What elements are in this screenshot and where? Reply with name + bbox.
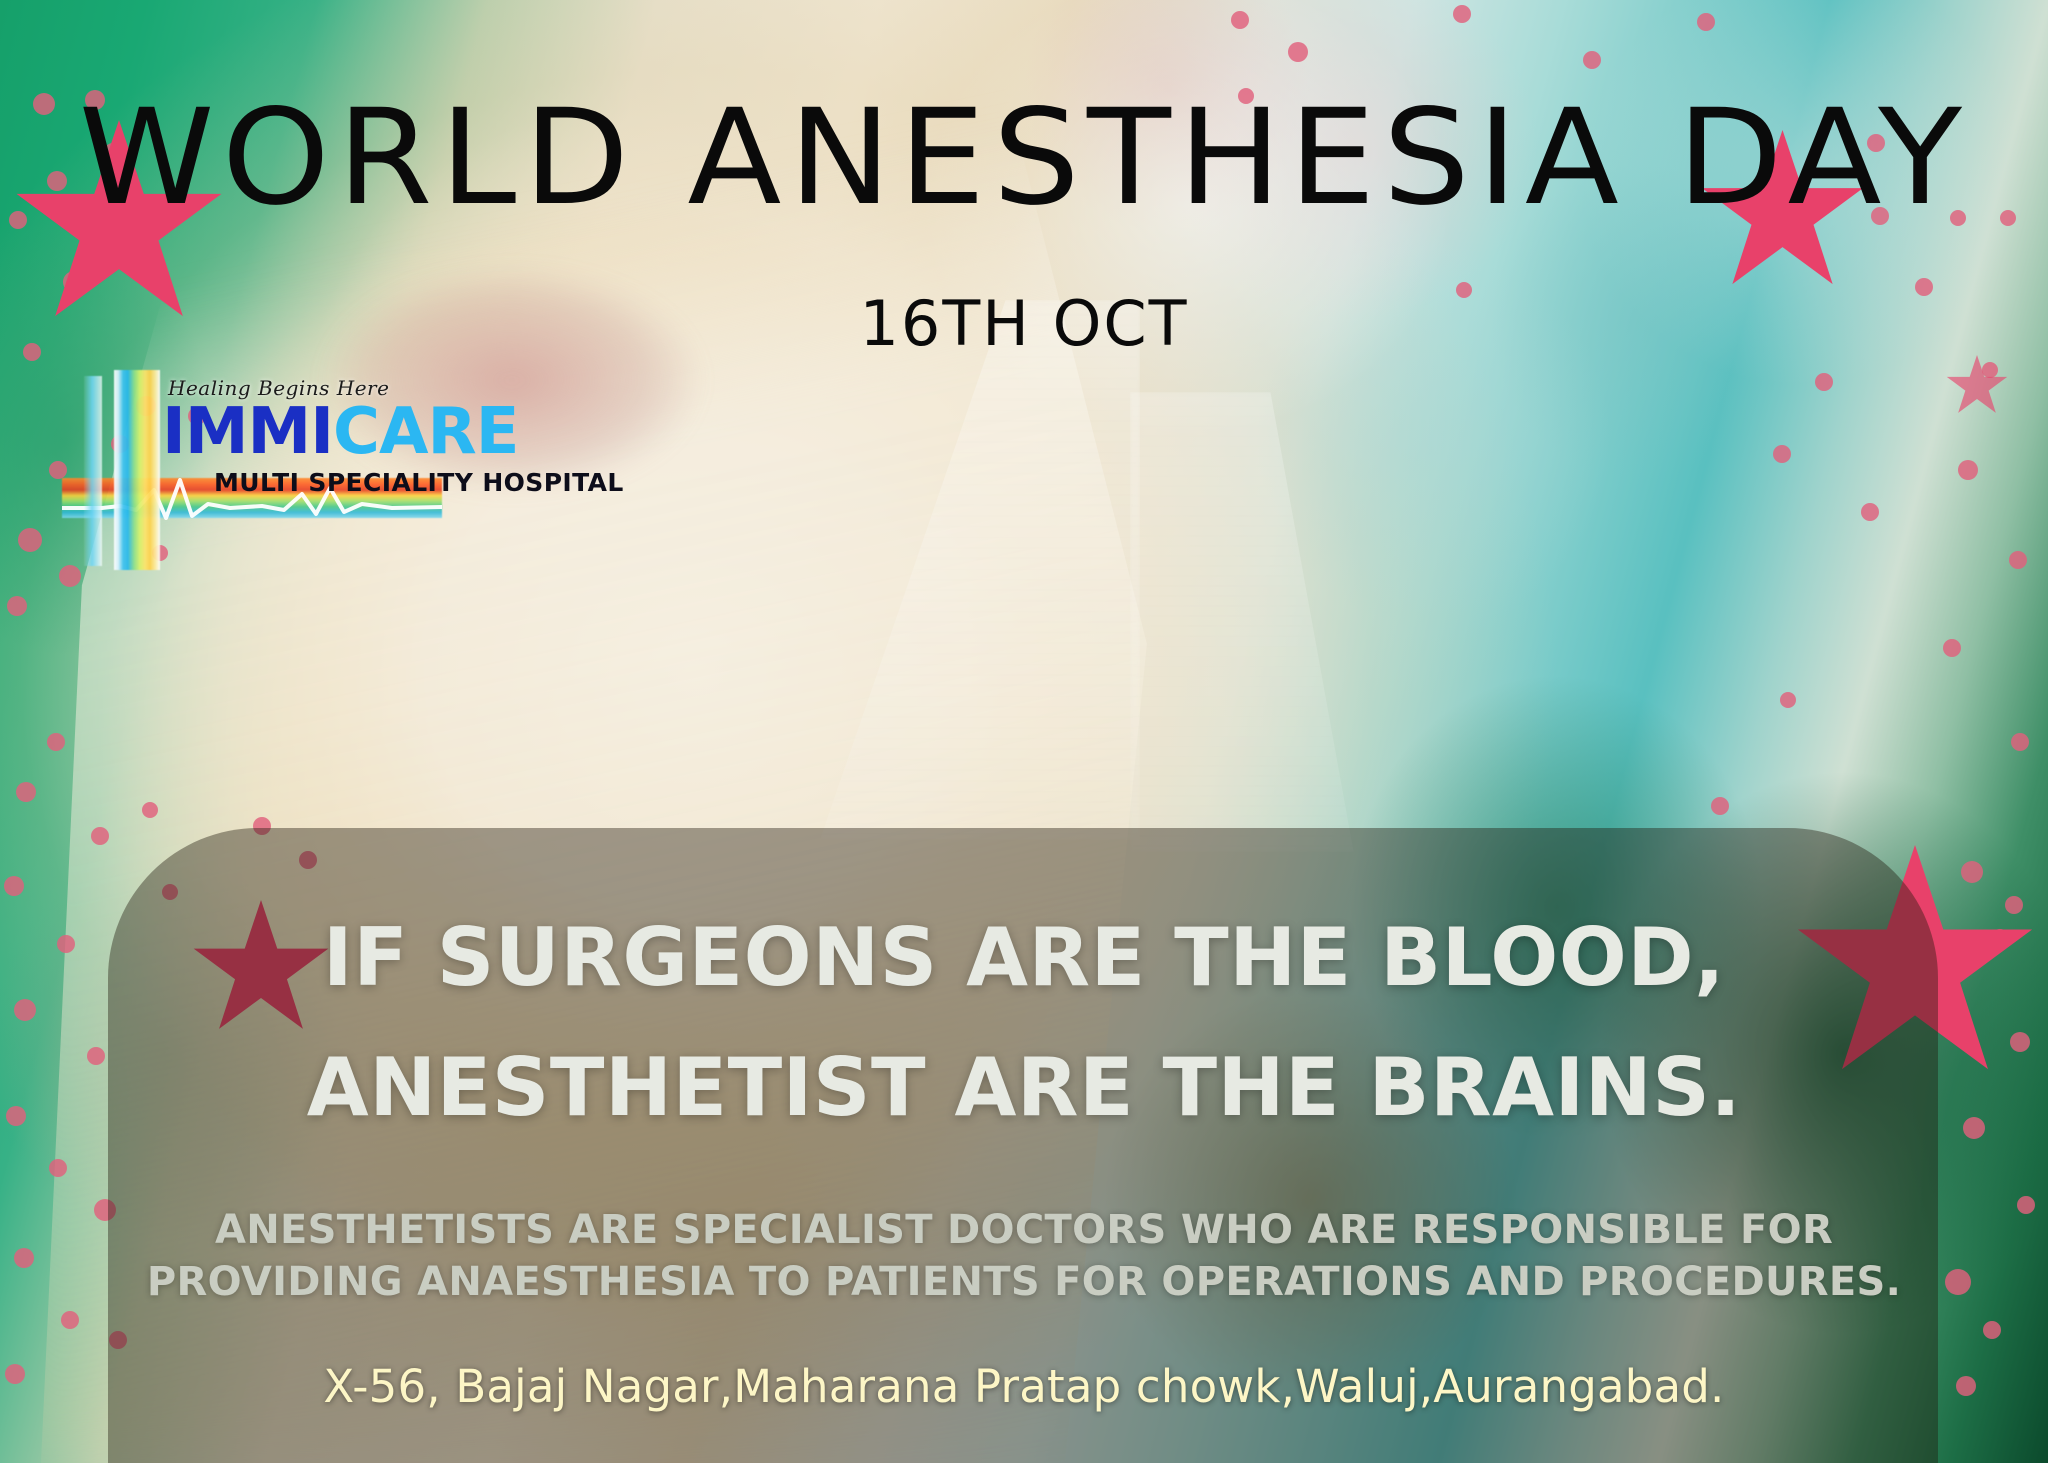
confetti-dot (1958, 460, 1978, 480)
confetti-dot (47, 733, 65, 751)
confetti-dot (1983, 1321, 2001, 1339)
confetti-dot (91, 827, 109, 845)
confetti-dot (1231, 11, 1249, 29)
confetti-dot (18, 528, 42, 552)
confetti-dot (1861, 503, 1879, 521)
confetti-dot (61, 1311, 79, 1329)
logo-wordmark-care: CARE (333, 395, 519, 469)
confetti-dot (1780, 692, 1796, 708)
page-title: WORLD ANESTHESIA DAY (0, 92, 2048, 224)
confetti-dot (16, 782, 36, 802)
confetti-dot (1943, 639, 1961, 657)
quote-line-1: IF SURGEONS ARE THE BLOOD, (0, 912, 2048, 1005)
confetti-dot (1453, 5, 1471, 23)
poster-canvas: WORLD ANESTHESIA DAY 16TH OCT Healing Be… (0, 0, 2048, 1463)
confetti-dot (1773, 445, 1791, 463)
body-line-2: PROVIDING ANAESTHESIA TO PATIENTS FOR OP… (0, 1257, 2048, 1307)
confetti-dot (1697, 13, 1715, 31)
logo-wordmark: IMMICARE (162, 400, 519, 464)
confetti-dot (7, 596, 27, 616)
logo-rainbow-vertical-bar (114, 370, 160, 570)
confetti-dot (1815, 373, 1833, 391)
hospital-logo: Healing Begins Here IMMICARE MULTI SPECI… (62, 370, 482, 580)
quote-line-2: ANESTHETIST ARE THE BRAINS. (0, 1042, 2048, 1135)
confetti-dot (2011, 733, 2029, 751)
confetti-dot (142, 802, 158, 818)
body-line-1: ANESTHETISTS ARE SPECIALIST DOCTORS WHO … (0, 1205, 2048, 1255)
confetti-dot (49, 1159, 67, 1177)
hospital-address: X-56, Bajaj Nagar,Maharana Pratap chowk,… (0, 1360, 2048, 1413)
confetti-dot (1982, 362, 1998, 378)
logo-wordmark-immi: IMMI (162, 395, 333, 469)
confetti-dot (1583, 51, 1601, 69)
confetti-dot (1288, 42, 1308, 62)
logo-rainbow-vertical-bar-thin (84, 376, 102, 566)
confetti-dot (4, 876, 24, 896)
confetti-dot (2009, 551, 2027, 569)
logo-subtitle: MULTI SPECIALITY HOSPITAL (214, 468, 624, 497)
event-date: 16TH OCT (0, 293, 2048, 355)
confetti-dot (1711, 797, 1729, 815)
confetti-dot (1961, 861, 1983, 883)
